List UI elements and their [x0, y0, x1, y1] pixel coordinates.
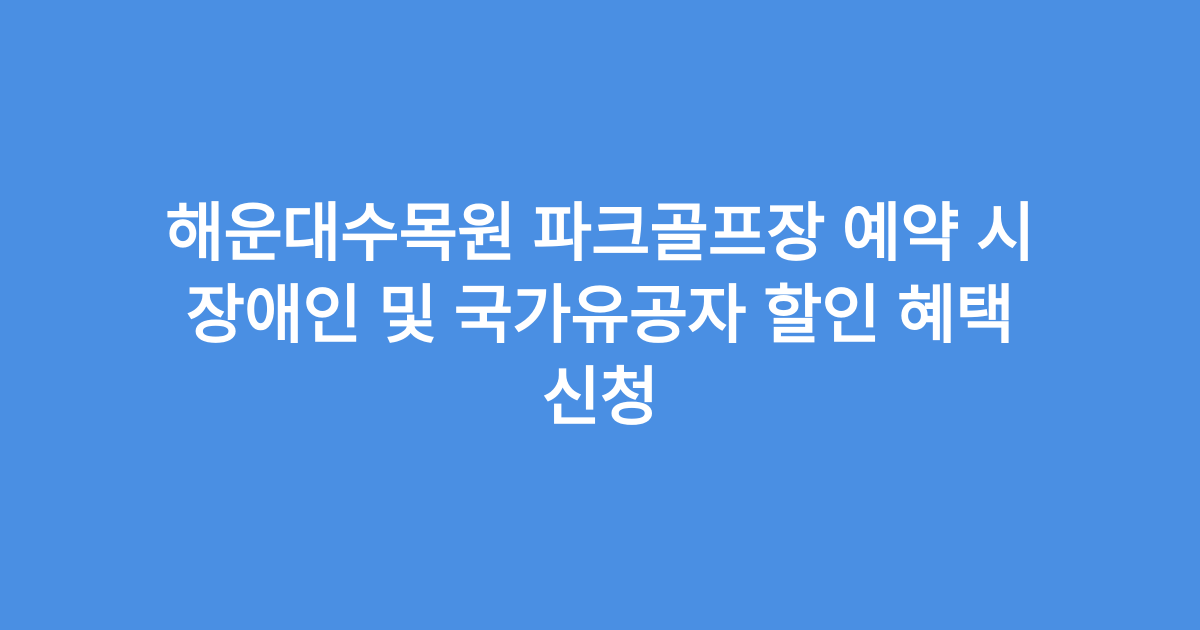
page-title: 해운대수목원 파크골프장 예약 시 장애인 및 국가유공자 할인 혜택 신청	[60, 192, 1140, 438]
share-card: 해운대수목원 파크골프장 예약 시 장애인 및 국가유공자 할인 혜택 신청	[0, 0, 1200, 630]
